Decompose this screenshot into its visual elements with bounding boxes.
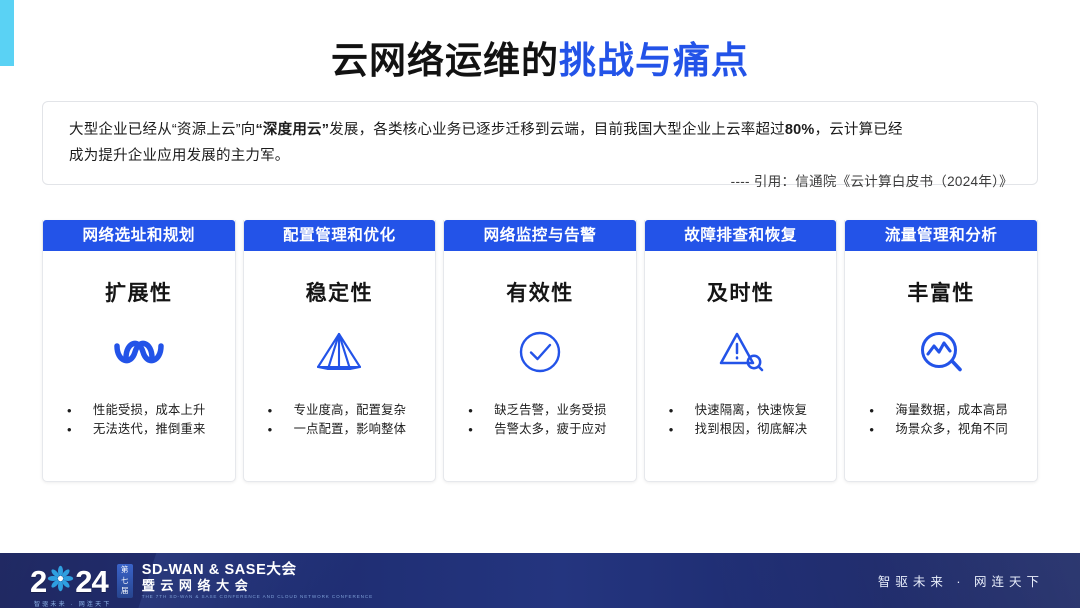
card-header-label: 网络监控与告警 [444, 220, 636, 251]
conference-name-line2: 暨云网络大会 [142, 578, 373, 593]
quote-text-a: 大型企业已经从“资源上云”向 [69, 122, 255, 138]
card-header-label: 网络选址和规划 [43, 220, 235, 251]
footer-bar: 2 [0, 553, 1080, 608]
quote-paragraph-line2: 成为提升企业应用发展的主力军。 [69, 143, 1013, 169]
card-header-label: 故障排查和恢复 [645, 220, 837, 251]
bullet-dot: • [67, 420, 93, 439]
card-config-management[interactable]: 配置管理和优化 稳定性 • 专 [243, 220, 437, 482]
page-title-blue-part: 挑战与痛点 [559, 40, 749, 81]
edition-badge: 第 七 届 [117, 564, 133, 598]
bullet-dot: • [468, 401, 494, 420]
card-header-label: 流量管理和分析 [845, 220, 1037, 251]
list-item: • 无法迭代，推倒重来 [53, 420, 225, 439]
list-item: • 专业度高，配置复杂 [254, 401, 426, 420]
bullet-dot: • [268, 420, 294, 439]
quote-paragraph: 大型企业已经从“资源上云”向“深度用云”发展，各类核心业务已逐步迁移到云端，目前… [69, 117, 1013, 143]
list-item: • 告警太多，疲于应对 [454, 420, 626, 439]
card-body: 有效性 • 缺乏告警，业务受损 • [444, 251, 636, 481]
edition-badge-char-3: 届 [121, 586, 128, 597]
bullet-text: 专业度高，配置复杂 [294, 401, 406, 420]
edition-badge-char-1: 第 [121, 565, 128, 576]
card-bullets: • 缺乏告警，业务受损 • 告警太多，疲于应对 [444, 401, 636, 439]
chart-search-icon [918, 329, 964, 375]
logo-tagline: 智驱未来 · 网连天下 [34, 599, 112, 608]
bullet-text: 无法迭代，推倒重来 [93, 420, 205, 439]
card-network-planning[interactable]: 网络选址和规划 扩展性 • 性能受损，成本上升 [42, 220, 236, 482]
card-bullets: • 快速隔离，快速恢复 • 找到根因，彻底解决 [645, 401, 837, 439]
list-item: • 性能受损，成本上升 [53, 401, 225, 420]
list-item: • 缺乏告警，业务受损 [454, 401, 626, 420]
edition-badge-char-2: 七 [121, 576, 128, 587]
bullet-text: 一点配置，影响整体 [294, 420, 406, 439]
card-body: 扩展性 • 性能受损，成本上升 • [43, 251, 235, 481]
network-weave-icon [112, 329, 166, 375]
logo-year-left: 2 [30, 566, 46, 597]
bullet-text: 告警太多，疲于应对 [494, 420, 606, 439]
bullet-text: 找到根因，彻底解决 [695, 420, 807, 439]
card-monitoring-alerting[interactable]: 网络监控与告警 有效性 • 缺乏告警，业务受损 [443, 220, 637, 482]
list-item: • 快速隔离，快速恢复 [655, 401, 827, 420]
card-bullets: • 专业度高，配置复杂 • 一点配置，影响整体 [244, 401, 436, 439]
bullet-dot: • [869, 420, 895, 439]
list-item: • 找到根因，彻底解决 [655, 420, 827, 439]
bullet-text: 缺乏告警，业务受损 [494, 401, 606, 420]
quote-text-b: 发展，各类核心业务已逐步迁移到云端，目前我国大型企业上云率超过 [329, 122, 785, 138]
page-title-dark-part: 云网络运维的 [331, 40, 559, 81]
quote-bold-percent: 80% [785, 122, 815, 138]
pinwheel-icon [47, 565, 74, 597]
conference-logo: 2 [30, 562, 373, 600]
card-title: 丰富性 [907, 277, 975, 307]
card-body: 及时性 • 快速隔离，快速恢复 [645, 251, 837, 481]
quote-source: ---- 引用：信通院《云计算白皮书（2024年）》 [69, 170, 1013, 190]
quote-bold-depth-cloud: “深度用云” [255, 122, 329, 138]
list-item: • 场景众多，视角不同 [855, 420, 1027, 439]
list-item: • 一点配置，影响整体 [254, 420, 426, 439]
bullet-text: 性能受损，成本上升 [93, 401, 205, 420]
card-title: 及时性 [707, 277, 775, 307]
card-body: 丰富性 • 海量数据，成本高昂 [845, 251, 1037, 481]
card-traffic-analysis[interactable]: 流量管理和分析 丰富性 • 海量数据，成本高昂 [844, 220, 1038, 482]
bullet-text: 场景众多，视角不同 [895, 420, 1007, 439]
bullet-dot: • [869, 401, 895, 420]
card-header-label: 配置管理和优化 [244, 220, 436, 251]
conference-name-line1: SD-WAN & SASE大会 [142, 562, 373, 578]
list-item: • 海量数据，成本高昂 [855, 401, 1027, 420]
bullet-dot: • [669, 401, 695, 420]
card-title: 有效性 [506, 277, 574, 307]
card-bullets: • 海量数据，成本高昂 • 场景众多，视角不同 [845, 401, 1037, 439]
bullet-dot: • [669, 420, 695, 439]
bullet-dot: • [67, 401, 93, 420]
card-body: 稳定性 • 专业度高，配置复杂 [244, 251, 436, 481]
warning-search-icon [717, 329, 765, 375]
footer-slogan: 智驱未来 · 网连天下 [878, 553, 1044, 608]
conference-name-line3: THE 7TH SD-WAN & SASE CONFERENCE AND CLO… [142, 593, 373, 600]
card-bullets: • 性能受损，成本上升 • 无法迭代，推倒重来 [43, 401, 235, 439]
check-circle-icon [518, 329, 562, 375]
page-title: 云网络运维的挑战与痛点 [0, 30, 1080, 84]
bullet-dot: • [468, 420, 494, 439]
bullet-text: 海量数据，成本高昂 [895, 401, 1007, 420]
card-title: 稳定性 [306, 277, 374, 307]
quote-text-c: ，云计算已经 [815, 122, 903, 138]
pyramid-icon [316, 329, 362, 375]
logo-year-right: 24 [75, 566, 107, 597]
bullet-text: 快速隔离，快速恢复 [695, 401, 807, 420]
conference-name-block: SD-WAN & SASE大会 暨云网络大会 THE 7TH SD-WAN & … [142, 562, 373, 600]
card-title: 扩展性 [105, 277, 173, 307]
bullet-dot: • [268, 401, 294, 420]
logo-year-2024: 2 [30, 565, 108, 597]
quote-box: 大型企业已经从“资源上云”向“深度用云”发展，各类核心业务已逐步迁移到云端，目前… [42, 101, 1038, 185]
slide-root: 云网络运维的挑战与痛点 大型企业已经从“资源上云”向“深度用云”发展，各类核心业… [0, 0, 1080, 608]
cards-row: 网络选址和规划 扩展性 • 性能受损，成本上升 [42, 220, 1038, 482]
card-troubleshooting-recovery[interactable]: 故障排查和恢复 及时性 [644, 220, 838, 482]
